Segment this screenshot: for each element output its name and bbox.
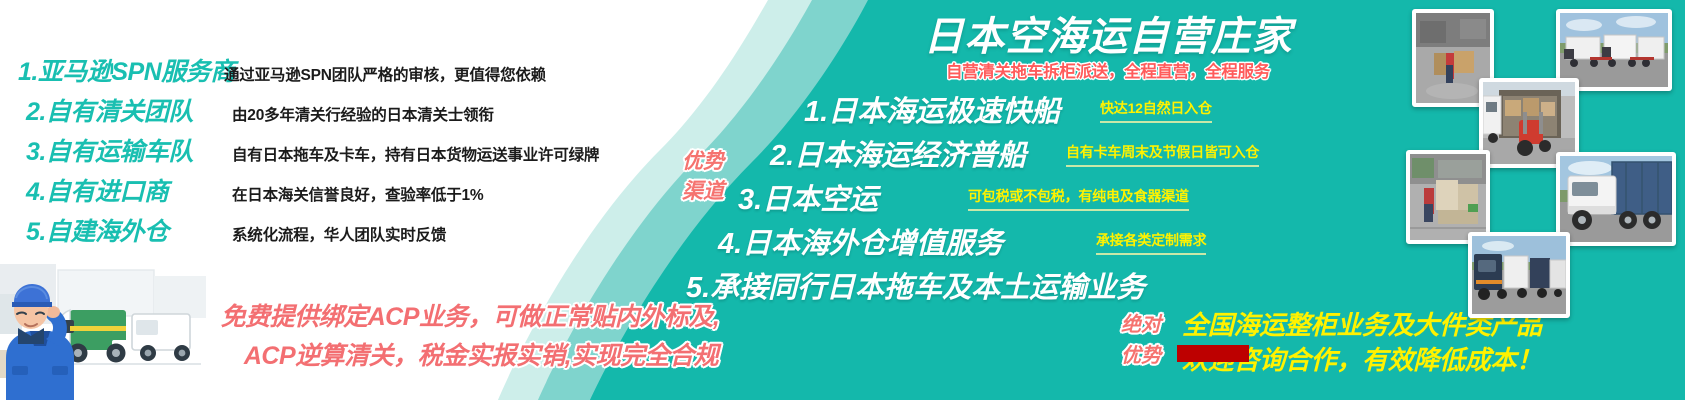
photo-truck-row-lineup xyxy=(1468,232,1570,318)
feature-row: 3.自有运输车队 自有日本拖车及卡车，持有日本货物运送事业许可绿牌 xyxy=(18,132,678,172)
feature-row: 5.自建海外仓 系统化流程，华人团队实时反馈 xyxy=(18,212,678,252)
cta-line1: 全国海运整柜业务及大件类产品 xyxy=(1182,308,1682,343)
absolute-advantage-badge: 绝对 优势 xyxy=(1110,310,1172,372)
service-note: 自有卡车周末及节假日皆可入仓 xyxy=(1066,142,1259,167)
feature-lead: 5.自建海外仓 xyxy=(18,212,232,248)
redaction-bar xyxy=(1177,345,1249,362)
delivery-worker-illustration xyxy=(0,254,206,400)
page-subtitle: 自营清关拖车拆柜派送，全程直营，全程服务 xyxy=(838,58,1378,82)
service-title: 4.日本海外仓增值服务 xyxy=(718,220,1003,262)
absolute-badge-line1: 绝对 xyxy=(1110,310,1172,341)
service-row: 4.日本海外仓增值服务 承接各类定制需求 xyxy=(700,220,1320,264)
feature-list: 1.亚马逊SPN服务商 通过亚马逊SPN团队严格的审核，更值得您依赖 2.自有清… xyxy=(18,52,678,252)
feature-desc: 通过亚马逊SPN团队严格的审核，更值得您依赖 xyxy=(224,63,546,85)
photo-warehouse-cargo-stacking xyxy=(1406,150,1490,244)
feature-lead: 1.亚马逊SPN服务商 xyxy=(18,52,224,88)
feature-lead: 3.自有运输车队 xyxy=(18,132,232,168)
cta-line2: 欢迎咨询合作，有效降低成本！ xyxy=(1182,343,1682,378)
feature-lead: 2.自有清关团队 xyxy=(18,92,232,128)
service-title: 3.日本空运 xyxy=(738,176,878,218)
absolute-badge-line2: 优势 xyxy=(1110,341,1172,372)
acp-notice: 免费提供绑定ACP业务，可做正常贴内外标及, ACP逆算清关，税金实报实销,实现… xyxy=(180,298,760,376)
service-title: 2.日本海运经济普船 xyxy=(770,132,1026,174)
acp-notice-line2: ACP逆算清关，税金实报实销,实现完全合规 xyxy=(202,337,760,376)
service-row: 3.日本空运 可包税或不包税，有纯电及食器渠道 xyxy=(700,176,1320,220)
feature-desc: 在日本海关信誉良好，查验率低于1% xyxy=(232,183,484,205)
photo-container-truck-blue xyxy=(1556,152,1676,246)
service-note: 承接各类定制需求 xyxy=(1096,230,1206,255)
service-note: 可包税或不包税，有纯电及食器渠道 xyxy=(968,186,1189,211)
feature-desc: 由20多年清关行经验的日本清关士领衔 xyxy=(232,103,494,125)
feature-lead: 4.自有进口商 xyxy=(18,172,232,208)
feature-desc: 系统化流程，华人团队实时反馈 xyxy=(232,223,446,245)
service-row: 5.承接同行日本拖车及本土运输业务 xyxy=(700,264,1320,308)
feature-row: 1.亚马逊SPN服务商 通过亚马逊SPN团队严格的审核，更值得您依赖 xyxy=(18,52,678,92)
service-title: 1.日本海运极速快船 xyxy=(804,88,1060,130)
service-note: 快达12自然日入仓 xyxy=(1100,98,1212,123)
service-row: 2.日本海运经济普船 自有卡车周末及节假日皆可入仓 xyxy=(700,132,1320,176)
promo-banner: 1.亚马逊SPN服务商 通过亚马逊SPN团队严格的审核，更值得您依赖 2.自有清… xyxy=(0,0,1685,400)
service-row: 1.日本海运极速快船 快达12自然日入仓 xyxy=(700,88,1320,132)
feature-desc: 自有日本拖车及卡车，持有日本货物运送事业许可绿牌 xyxy=(232,143,599,165)
feature-row: 4.自有进口商 在日本海关信誉良好，查验率低于1% xyxy=(18,172,678,212)
acp-notice-line1: 免费提供绑定ACP业务，可做正常贴内外标及, xyxy=(180,298,760,337)
service-title: 5.承接同行日本拖车及本土运输业务 xyxy=(686,264,1145,306)
cta-text: 全国海运整柜业务及大件类产品 欢迎咨询合作，有效降低成本！ xyxy=(1182,308,1682,378)
service-list: 1.日本海运极速快船 快达12自然日入仓 2.日本海运经济普船 自有卡车周末及节… xyxy=(700,88,1320,308)
feature-row: 2.自有清关团队 由20多年清关行经验的日本清关士领衔 xyxy=(18,92,678,132)
page-title: 日本空海运自营庄家 xyxy=(838,4,1378,62)
